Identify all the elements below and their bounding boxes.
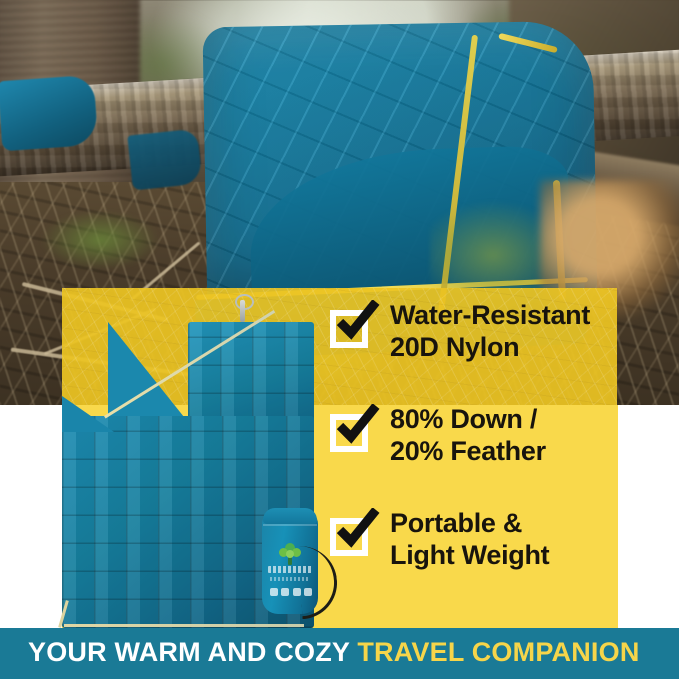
feature-text: Portable & Light Weight (390, 508, 549, 572)
feature-line-1: Water-Resistant (390, 300, 590, 332)
feature-list: Water-Resistant 20D Nylon 80% Down / 20%… (330, 300, 630, 612)
feature-item-down-feather: 80% Down / 20% Feather (330, 404, 630, 508)
quilt-stitching (188, 322, 314, 422)
feature-text: 80% Down / 20% Feather (390, 404, 546, 468)
blanket-trim-bottom (64, 624, 304, 627)
feature-item-portable: Portable & Light Weight (330, 508, 630, 612)
feature-line-2: Light Weight (390, 540, 549, 572)
spec-icon (281, 588, 289, 596)
stuff-sack-seam (263, 524, 317, 526)
blanket-upper-panel (188, 322, 314, 422)
feature-line-2: 20D Nylon (390, 332, 590, 364)
feature-line-1: 80% Down / (390, 404, 546, 436)
checkbox-checked-icon (330, 410, 374, 454)
hang-loop-icon (240, 300, 245, 322)
feature-item-water-resistant: Water-Resistant 20D Nylon (330, 300, 630, 404)
feature-text: Water-Resistant 20D Nylon (390, 300, 590, 364)
checkbox-checked-icon (330, 306, 374, 350)
fabric-bundle-left (0, 75, 98, 152)
stuff-sack-top (263, 508, 317, 524)
product-feature-image: Water-Resistant 20D Nylon 80% Down / 20%… (0, 0, 679, 679)
fabric-bundle-tail (127, 128, 202, 190)
spec-icon (270, 588, 278, 596)
banner-text-accent: TRAVEL COMPANION (357, 637, 639, 667)
spec-icon (293, 588, 301, 596)
checkbox-checked-icon (330, 514, 374, 558)
feature-line-2: 20% Feather (390, 436, 546, 468)
banner-tagline: YOUR WARM AND COZY TRAVEL COMPANION (28, 637, 668, 668)
moss-patch (40, 210, 160, 270)
logo-leaf (286, 550, 294, 558)
feature-line-1: Portable & (390, 508, 549, 540)
banner-text-white: YOUR WARM AND COZY (28, 637, 350, 667)
